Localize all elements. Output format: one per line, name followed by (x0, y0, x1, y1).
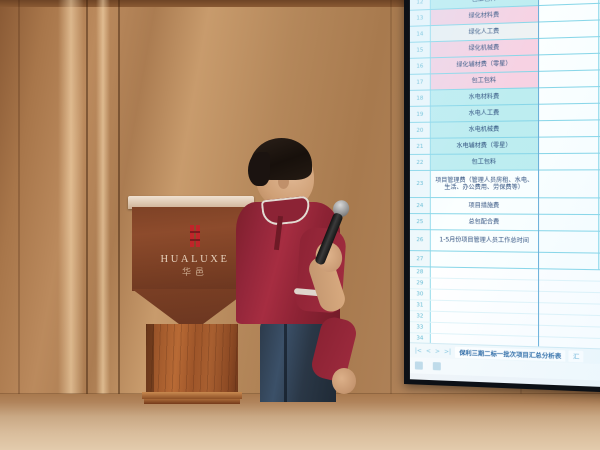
table-row[interactable]: 24项目措施费 (410, 198, 600, 215)
cell-label[interactable]: 绿化辅材费（零星） (431, 55, 539, 73)
row-header[interactable]: 19 (410, 107, 431, 122)
row-header[interactable]: 23 (410, 171, 431, 197)
cell-label[interactable] (431, 251, 539, 268)
presenter-left-hand (332, 368, 356, 394)
wood-grain-texture (146, 324, 238, 398)
cell-label[interactable]: 绿化机械费 (431, 39, 539, 57)
lectern-base-moulding (142, 392, 242, 399)
cell-label[interactable]: 总包配合费 (431, 214, 539, 230)
sheet-nav-button[interactable]: < (426, 347, 431, 354)
row-header[interactable]: 27 (410, 251, 431, 266)
row-header[interactable]: 16 (410, 58, 431, 74)
spreadsheet-app: 12包工包料13绿化材料费14绿化人工费15绿化机械费16绿化辅材费（零星）17… (410, 0, 600, 388)
presenter (232, 132, 360, 402)
cell-value-b[interactable] (539, 87, 599, 104)
cell-value-b[interactable] (539, 20, 599, 37)
cell-label[interactable]: 包工包料 (431, 154, 539, 170)
sheet-nav-button[interactable]: > (435, 348, 440, 355)
row-header[interactable]: 13 (410, 10, 431, 26)
cell-label[interactable]: 水电辅材费（零星） (431, 138, 539, 154)
row-header[interactable]: 24 (410, 198, 431, 213)
row-header[interactable]: 18 (410, 90, 431, 105)
row-header[interactable]: 30 (410, 289, 431, 299)
row-header[interactable]: 25 (410, 214, 431, 229)
cell-label[interactable]: 项目措施费 (431, 198, 539, 214)
row-header[interactable]: 32 (410, 311, 431, 322)
row-header[interactable]: 12 (410, 0, 431, 10)
status-icon-left[interactable] (415, 361, 423, 369)
spreadsheet-grid[interactable]: 12包工包料13绿化材料费14绿化人工费15绿化机械费16绿化辅材费（零星）17… (410, 0, 600, 353)
cell-value-b[interactable] (539, 154, 599, 170)
wall-highlight (96, 0, 110, 450)
cell-value-b[interactable] (539, 198, 599, 214)
floor (0, 394, 600, 450)
lectern-pedestal (146, 324, 238, 398)
row-header[interactable]: 17 (410, 74, 431, 90)
table-row[interactable]: 22包工包料 (410, 153, 600, 171)
conference-room-scene: HUALUXE 华邑 (0, 0, 600, 450)
row-header[interactable]: 33 (410, 322, 431, 333)
column-divider (538, 0, 539, 388)
cell-value-b[interactable] (539, 253, 599, 269)
row-header[interactable]: 22 (410, 155, 431, 170)
cell-label[interactable]: 包工包料 (431, 72, 539, 90)
table-row[interactable]: 23项目管理费（管理人员房租、水电、生活、办公费用、劳保费等） (410, 170, 600, 199)
table-row[interactable]: 21水电辅材费（零星） (410, 136, 600, 155)
row-header[interactable]: 20 (410, 123, 431, 138)
sheet-nav-button[interactable]: >| (444, 348, 451, 355)
sheet-nav-buttons[interactable]: |<<>>| (413, 347, 451, 355)
cell-value-b[interactable] (539, 215, 599, 231)
sheet-tab[interactable]: 汇 (569, 350, 584, 362)
cell-label[interactable]: 水电材料费 (431, 88, 539, 105)
trouser-seam (284, 322, 287, 402)
wall-seam (118, 0, 120, 450)
wall-seam (18, 0, 20, 450)
row-header[interactable]: 29 (410, 278, 431, 288)
row-header[interactable]: 14 (410, 26, 431, 42)
cell-label[interactable]: 绿化人工费 (431, 22, 539, 41)
cell-value-b[interactable] (539, 37, 599, 54)
cell-value-b[interactable] (539, 120, 599, 136)
row-header[interactable]: 31 (410, 300, 431, 311)
wall-highlight (58, 0, 84, 450)
cell-value-b[interactable] (539, 170, 599, 197)
cell-value-b[interactable] (539, 231, 599, 252)
cell-label[interactable]: 水电机械费 (431, 121, 539, 138)
hualuxe-emblem-icon (190, 225, 201, 247)
lectern-base-moulding (144, 399, 240, 404)
sheet-nav-button[interactable]: |< (415, 347, 422, 354)
cell-value-b[interactable] (539, 4, 599, 22)
lectern-shadow (146, 324, 154, 398)
cell-value-b[interactable] (539, 54, 599, 71)
cell-label[interactable]: 项目管理费（管理人员房租、水电、生活、办公费用、劳保费等） (431, 171, 539, 198)
row-header[interactable]: 21 (410, 139, 431, 154)
table-row[interactable]: 20水电机械费 (410, 119, 600, 139)
cell-label[interactable]: 水电人工费 (431, 105, 539, 122)
status-icon-right[interactable] (433, 362, 441, 370)
presenter-hair (248, 152, 270, 186)
cell-value-b[interactable] (539, 137, 599, 153)
projected-display: 12包工包料13绿化材料费14绿化人工费15绿化机械费16绿化辅材费（零星）17… (410, 0, 600, 388)
row-header[interactable]: 28 (410, 267, 431, 277)
cell-label[interactable]: 1-5月份项目管理人员工作总时间 (431, 230, 539, 252)
cell-value-b[interactable] (539, 104, 599, 120)
cell-value-b[interactable] (539, 70, 599, 87)
wall-seam (86, 0, 88, 450)
row-header[interactable]: 26 (410, 230, 431, 250)
row-header[interactable]: 15 (410, 42, 431, 58)
wall-seam (390, 0, 392, 450)
projection-screen: 12包工包料13绿化材料费14绿化人工费15绿化机械费16绿化辅材费（零星）17… (404, 0, 600, 393)
